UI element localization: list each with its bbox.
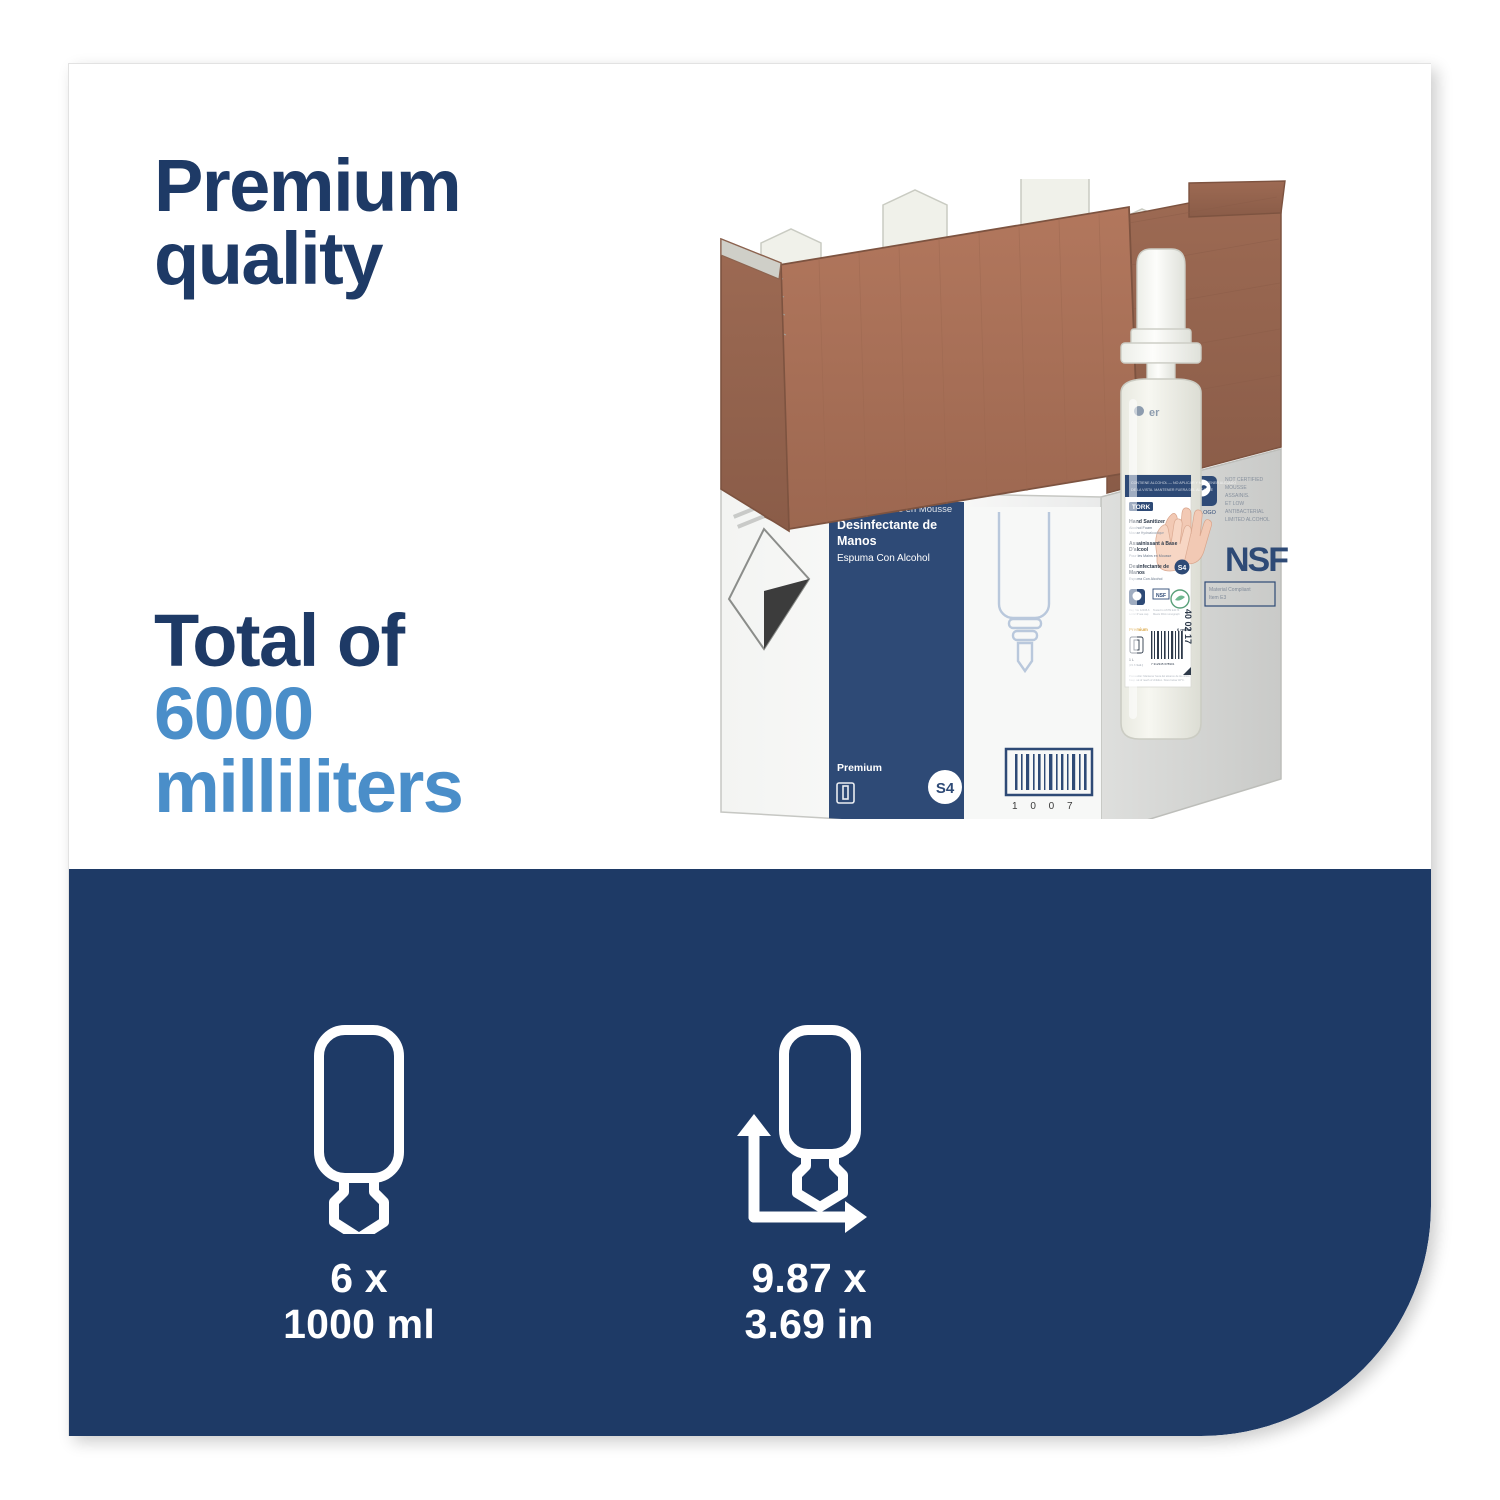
svg-text:7 312345 678901: 7 312345 678901 [1151,662,1175,666]
svg-text:Premium: Premium [837,762,882,774]
dimensions-icon [734,1019,884,1234]
svg-text:Item E3: Item E3 [1209,595,1226,601]
spec-dimensions: 9.87 x 3.69 in [709,1019,909,1348]
svg-text:er: er [1149,407,1160,419]
svg-text:Keep out of reach of children.: Keep out of reach of children. Store bel… [1129,678,1185,682]
svg-text:LIMITED ALCOHOL: LIMITED ALCOHOL [1225,517,1270,523]
svg-text:Precaución: Mantener fuera del: Precaución: Mantener fuera del alcance d… [1129,674,1190,678]
svg-text:NSF: NSF [1225,541,1288,579]
spec-quantity: 6 x 1000 ml [259,1019,459,1348]
bottle-icon [299,1019,419,1234]
premium-quality-heading: Premium quality [154,149,624,296]
svg-text:Espuma Con Alcohol: Espuma Con Alcohol [837,553,930,564]
svg-text:NSF: NSF [1156,593,1166,599]
spec-dimensions-label: 9.87 x 3.69 in [744,1256,873,1348]
infographic-canvas: Premium quality Total of 6000 milliliter… [0,0,1500,1500]
svg-text:Material Compliant: Material Compliant [1209,587,1251,593]
svg-text:Tested to ASTM E1174: Tested to ASTM E1174 [1153,608,1180,612]
svg-text:S4: S4 [936,780,955,797]
svg-text:Meets FDA monograph: Meets FDA monograph [1153,612,1180,616]
svg-text:Manos: Manos [837,534,877,548]
svg-text:1 0 0 7: 1 0 0 7 [1012,801,1078,812]
carton-box: 1 0 0 7 Pour Les Mains en Mousse Desinfe… [721,181,1288,819]
product-info-card: Premium quality Total of 6000 milliliter… [68,63,1431,1436]
total-of-heading: Total of [154,604,624,677]
svg-text:ET LOW: ET LOW [1225,501,1244,507]
svg-text:Desinfectante de: Desinfectante de [837,518,937,532]
svg-text:DE LA VISTA. MANTENER FUERA DE: DE LA VISTA. MANTENER FUERA DEL ALCANCE [1131,488,1214,492]
svg-text:CONTIENE ALCOHOL — NO APLICAR: CONTIENE ALCOHOL — NO APLICAR Y MANTENER… [1131,481,1236,485]
svg-text:ASSAINIS.: ASSAINIS. [1225,493,1249,499]
specifications-panel: 6 x 1000 ml [69,869,1431,1436]
product-photo: 1 0 0 7 Pour Les Mains en Mousse Desinfe… [669,179,1329,819]
svg-text:6 refills: 6 refills [1177,627,1192,632]
svg-text:ANTIBACTERIAL: ANTIBACTERIAL [1225,509,1264,515]
total-volume-heading: 6000 milliliters [154,677,624,824]
headings-block: Premium quality Total of 6000 milliliter… [154,149,624,823]
top-section: Premium quality Total of 6000 milliliter… [69,64,1431,869]
spec-quantity-label: 6 x 1000 ml [283,1256,435,1348]
svg-text:MOUSSE: MOUSSE [1225,485,1247,491]
svg-text:S4: S4 [1178,565,1187,572]
specs-row: 6 x 1000 ml [259,1019,959,1348]
